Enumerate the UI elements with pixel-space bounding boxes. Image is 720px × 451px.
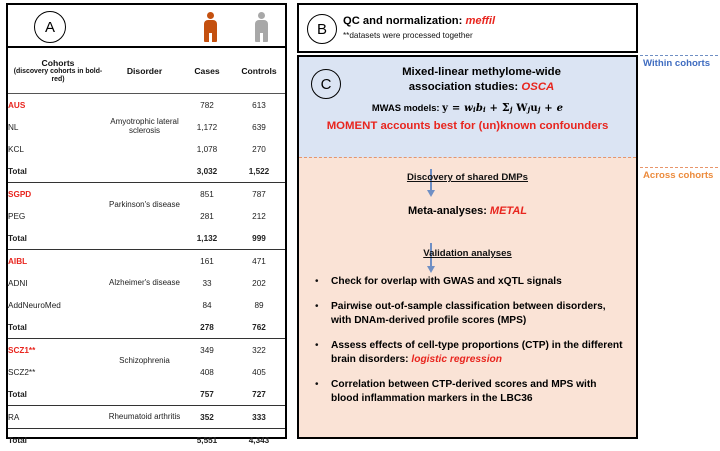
panel-c-tool-name: OSCA [521, 81, 554, 93]
cell-controls: 405 [233, 361, 285, 383]
cell-cohort: AUS [8, 94, 108, 117]
side-label-across-cohorts: Across cohorts [640, 167, 718, 181]
list-item-text: Pairwise out-of-sample classification be… [331, 300, 624, 327]
figure-root: A Cohorts (discovery cohorts in bold-red… [0, 0, 720, 442]
cell-cohort: SCZ1** [8, 339, 108, 362]
cell-controls: 333 [233, 406, 285, 429]
table-row-total: Total1,132999 [8, 227, 285, 250]
cell-cases: 161 [181, 250, 233, 273]
cell-disorder: Amyotrophic lateral sclerosis [108, 94, 181, 161]
cell-total-controls: 762 [233, 316, 285, 339]
step-validation-label: Validation analyses [423, 248, 512, 259]
cell-cohort: AddNeuroMed [8, 294, 108, 316]
cell-disorder-spacer [108, 316, 181, 339]
cell-controls: 270 [233, 138, 285, 160]
step-meta-analyses: Meta-analyses: METAL [299, 205, 636, 217]
cell-cases: 352 [181, 406, 233, 429]
list-item: •Correlation between CTP-derived scores … [313, 378, 624, 405]
step-discovery-label: Discovery of shared DMPs [407, 172, 528, 183]
cell-cohort: ADNI [8, 272, 108, 294]
list-item: •Pairwise out-of-sample classification b… [313, 300, 624, 327]
cell-grand-total-cases: 5,551 [181, 429, 233, 451]
table-row-total: Total278762 [8, 316, 285, 339]
step-discovery: Discovery of shared DMPs [299, 167, 636, 185]
list-item: •Assess effects of cell-type proportions… [313, 339, 624, 366]
cell-total-label: Total [8, 383, 108, 406]
cell-cases: 782 [181, 94, 233, 117]
step-meta-tool-name: METAL [490, 205, 527, 217]
cell-grand-total-label: Total [8, 429, 108, 451]
panel-b-title-text: QC and normalization: [343, 15, 465, 27]
cell-grand-total-controls: 4,343 [233, 429, 285, 451]
panel-a-badge: A [34, 11, 66, 43]
side-annotations: Within cohorts Across cohorts [640, 3, 718, 439]
table-row-total: Total3,0321,522 [8, 160, 285, 183]
cell-cases: 1,172 [181, 116, 233, 138]
col-header-cohorts: Cohorts (discovery cohorts in bold-red) [8, 48, 108, 94]
table-row-total: Total757727 [8, 383, 285, 406]
col-header-cases: Cases [181, 48, 233, 94]
list-item-tool-name: logistic regression [411, 354, 502, 365]
cell-grand-total-spacer [108, 429, 181, 451]
bullet-dot-icon: • [313, 339, 331, 366]
cell-total-cases: 278 [181, 316, 233, 339]
panel-b-note: **datasets were processed together [343, 31, 473, 40]
person-icon-orange [204, 12, 217, 42]
cell-total-label: Total [8, 316, 108, 339]
cohort-table-head: Cohorts (discovery cohorts in bold-red) … [8, 48, 285, 94]
list-item-main-text: Correlation between CTP-derived scores a… [331, 379, 597, 403]
panel-c-analyses: C Mixed-linear methylome-wide associatio… [297, 55, 638, 439]
list-item-text: Correlation between CTP-derived scores a… [331, 378, 624, 405]
list-item-text: Assess effects of cell-type proportions … [331, 339, 624, 366]
cell-disorder: Alzheimer's disease [108, 250, 181, 317]
col-header-disorder: Disorder [108, 48, 181, 94]
cell-cases: 33 [181, 272, 233, 294]
side-label-across-text: Across cohorts [640, 168, 718, 181]
cell-cohort: RA [8, 406, 108, 429]
panel-b-badge: B [307, 14, 337, 44]
cell-cases: 851 [181, 183, 233, 206]
panel-a-header: A [8, 5, 285, 48]
bullet-dot-icon: • [313, 300, 331, 327]
bullet-dot-icon: • [313, 275, 331, 288]
cell-cases: 281 [181, 205, 233, 227]
step-meta-label: Meta-analyses: [408, 205, 490, 217]
cell-controls: 471 [233, 250, 285, 273]
cell-disorder: Parkinson's disease [108, 183, 181, 228]
list-item: •Check for overlap with GWAS and xQTL si… [313, 275, 624, 288]
table-row: AUSAmyotrophic lateral sclerosis782613 [8, 94, 285, 117]
panel-c-title-line1: Mixed-linear methylome-wide [402, 66, 561, 78]
step-validation: Validation analyses [299, 243, 636, 261]
cell-cases: 349 [181, 339, 233, 362]
panel-b-tool-name: meffil [465, 15, 495, 27]
cell-cases: 1,078 [181, 138, 233, 160]
list-item-main-text: Check for overlap with GWAS and xQTL sig… [331, 276, 562, 287]
cell-cohort: AIBL [8, 250, 108, 273]
cell-controls: 322 [233, 339, 285, 362]
panel-b-title: QC and normalization: meffil [343, 15, 495, 27]
cell-total-cases: 757 [181, 383, 233, 406]
cohort-table-body: AUSAmyotrophic lateral sclerosis782613NL… [8, 94, 285, 451]
cell-total-controls: 1,522 [233, 160, 285, 183]
mwas-equation: y = wibi + Σj Wjuj + e [442, 103, 563, 114]
table-row: AIBLAlzheimer's disease161471 [8, 250, 285, 273]
panel-a-cohorts: A Cohorts (discovery cohorts in bold-red… [6, 3, 287, 439]
cell-total-controls: 727 [233, 383, 285, 406]
bullet-dot-icon: • [313, 378, 331, 405]
cell-disorder-spacer [108, 160, 181, 183]
panel-b-qc: B QC and normalization: meffil **dataset… [297, 3, 638, 53]
col-header-cohorts-label: Cohorts [42, 58, 75, 68]
cell-controls: 639 [233, 116, 285, 138]
cell-controls: 89 [233, 294, 285, 316]
cohort-table: Cohorts (discovery cohorts in bold-red) … [8, 48, 285, 451]
col-header-cohorts-sub: (discovery cohorts in bold-red) [8, 68, 108, 84]
moment-statement: MOMENT accounts best for (un)known confo… [299, 119, 636, 133]
panel-c-within-cohorts-section: C Mixed-linear methylome-wide associatio… [299, 57, 636, 158]
cell-disorder-spacer [108, 227, 181, 250]
panel-c-title-line2: association studies: [409, 81, 522, 93]
col-header-controls: Controls [233, 48, 285, 94]
list-item-main-text: Pairwise out-of-sample classification be… [331, 301, 606, 325]
mwas-model-row: MWAS models: y = wibi + Σj Wjuj + e [299, 101, 636, 114]
cell-controls: 202 [233, 272, 285, 294]
cell-disorder: Rheumatoid arthritis [108, 406, 181, 429]
cell-cohort: KCL [8, 138, 108, 160]
cell-cases: 408 [181, 361, 233, 383]
moment-line2: confounders [539, 120, 608, 132]
table-header-row: Cohorts (discovery cohorts in bold-red) … [8, 48, 285, 94]
cell-controls: 787 [233, 183, 285, 206]
cell-total-label: Total [8, 160, 108, 183]
table-row: SGPDParkinson's disease851787 [8, 183, 285, 206]
cell-cases: 84 [181, 294, 233, 316]
cell-total-controls: 999 [233, 227, 285, 250]
mwas-label: MWAS models: [372, 102, 440, 113]
cell-total-label: Total [8, 227, 108, 250]
table-row: SCZ1**Schizophrenia349322 [8, 339, 285, 362]
analysis-bullet-list: •Check for overlap with GWAS and xQTL si… [313, 275, 624, 417]
table-row-grand-total: Total5,5514,343 [8, 429, 285, 451]
cell-cohort: PEG [8, 205, 108, 227]
cell-cohort: SCZ2** [8, 361, 108, 383]
side-label-within-text: Within cohorts [640, 56, 718, 69]
cell-controls: 212 [233, 205, 285, 227]
cell-disorder: Schizophrenia [108, 339, 181, 384]
list-item-text: Check for overlap with GWAS and xQTL sig… [331, 275, 562, 288]
cell-controls: 613 [233, 94, 285, 117]
cell-disorder-spacer [108, 383, 181, 406]
panel-c-title: Mixed-linear methylome-wide association … [299, 65, 636, 94]
cell-total-cases: 1,132 [181, 227, 233, 250]
table-row: RARheumatoid arthritis352333 [8, 406, 285, 429]
cell-cohort: NL [8, 116, 108, 138]
cell-cohort: SGPD [8, 183, 108, 206]
moment-line1: MOMENT accounts best for (un)known [327, 120, 536, 132]
cell-total-cases: 3,032 [181, 160, 233, 183]
person-icon-gray [255, 12, 268, 42]
side-label-within-cohorts: Within cohorts [640, 55, 718, 69]
